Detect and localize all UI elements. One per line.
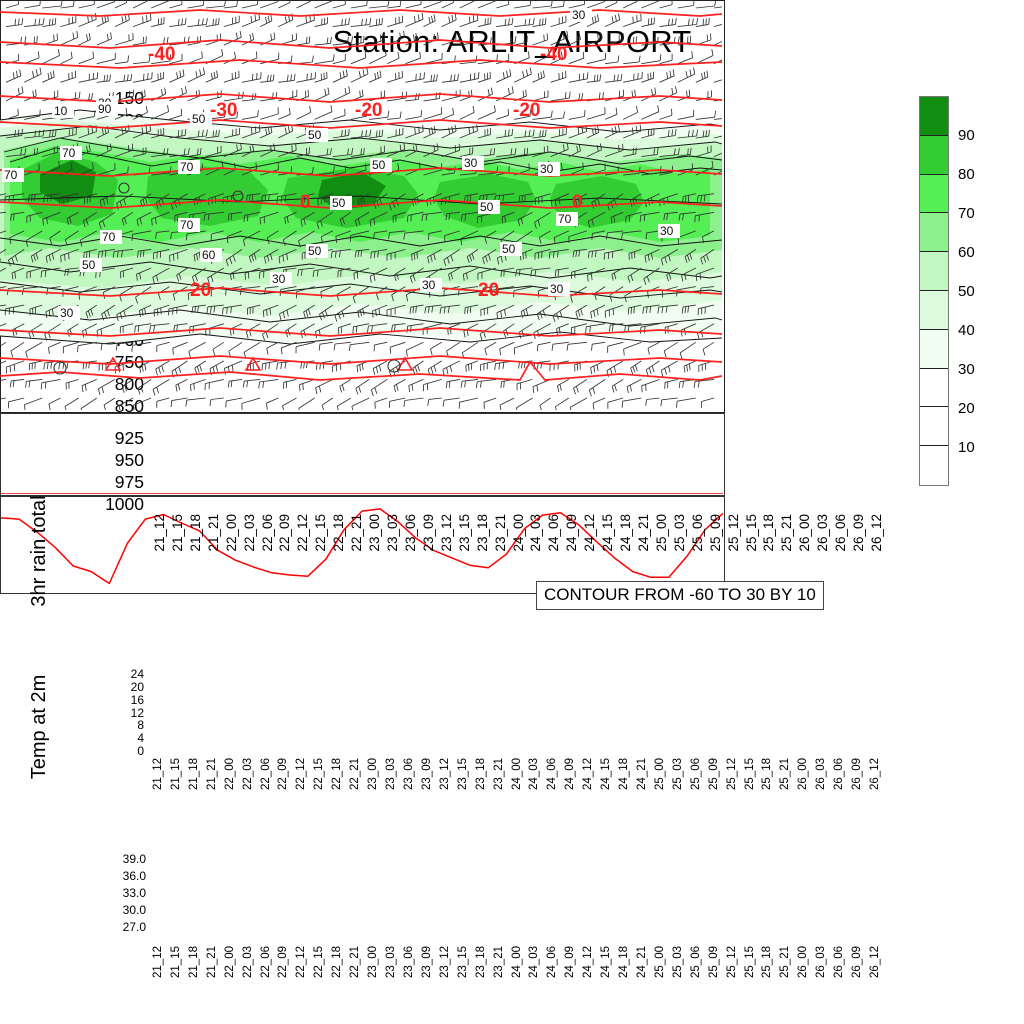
temp-time-tick-22_15: 22_15 xyxy=(314,946,326,978)
pressure-tick-950: 950 xyxy=(88,452,144,470)
temp-y-axis-label: Temp at 2m xyxy=(28,632,56,822)
time-tick-26_03: 26_03 xyxy=(816,514,830,552)
temp-time-tick-21_18: 21_18 xyxy=(189,946,201,978)
colorbar-label-80: 80 xyxy=(958,167,975,182)
temp-x-tick-labels: 21_1221_1521_1821_2122_0022_0322_0622_09… xyxy=(152,946,877,1008)
temp-tick-36.0: 36.0 xyxy=(98,870,146,882)
colorbar-label-10: 10 xyxy=(958,440,975,455)
rain-tick-20: 20 xyxy=(98,681,144,693)
temp-time-tick-26_06: 26_06 xyxy=(834,946,846,978)
temp-time-tick-24_09: 24_09 xyxy=(565,946,577,978)
rain-time-tick-22_15: 22_15 xyxy=(314,758,326,790)
colorbar-band-0 xyxy=(920,97,948,136)
time-tick-23_18: 23_18 xyxy=(476,514,490,552)
time-tick-23_00: 23_00 xyxy=(368,514,382,552)
temp-time-tick-22_18: 22_18 xyxy=(332,946,344,978)
pressure-tick-1000: 1000 xyxy=(88,496,144,514)
time-tick-24_09: 24_09 xyxy=(565,514,579,552)
temp-time-tick-26_12: 26_12 xyxy=(870,946,882,978)
time-tick-26_00: 26_00 xyxy=(798,514,812,552)
svg-text:70: 70 xyxy=(4,168,18,182)
colorbar-band-8 xyxy=(920,407,948,446)
rain-time-tick-24_03: 24_03 xyxy=(529,758,541,790)
rain-time-tick-24_09: 24_09 xyxy=(565,758,577,790)
colorbar-band-4 xyxy=(920,252,948,291)
time-tick-25_03: 25_03 xyxy=(673,514,687,552)
rain-time-tick-25_15: 25_15 xyxy=(745,758,757,790)
svg-text:-20: -20 xyxy=(513,100,540,121)
time-tick-24_03: 24_03 xyxy=(529,514,543,552)
colorbar-band-6 xyxy=(920,330,948,369)
rain-time-tick-23_21: 23_21 xyxy=(494,758,506,790)
svg-text:50: 50 xyxy=(480,200,494,214)
svg-text:10: 10 xyxy=(54,104,68,118)
svg-text:60: 60 xyxy=(202,248,216,262)
time-tick-22_03: 22_03 xyxy=(243,514,257,552)
time-tick-22_18: 22_18 xyxy=(332,514,346,552)
temp-time-tick-23_00: 23_00 xyxy=(368,946,380,978)
colorbar-band-3 xyxy=(920,213,948,252)
time-tick-22_09: 22_09 xyxy=(278,514,292,552)
time-tick-23_03: 23_03 xyxy=(386,514,400,552)
rain-time-tick-24_15: 24_15 xyxy=(601,758,613,790)
time-tick-24_00: 24_00 xyxy=(512,514,526,552)
time-tick-24_06: 24_06 xyxy=(547,514,561,552)
temp-time-tick-24_06: 24_06 xyxy=(547,946,559,978)
time-tick-23_09: 23_09 xyxy=(422,514,436,552)
rain-time-tick-26_06: 26_06 xyxy=(834,758,846,790)
time-tick-24_21: 24_21 xyxy=(637,514,651,552)
svg-text:70: 70 xyxy=(180,160,194,174)
rain-time-tick-26_12: 26_12 xyxy=(870,758,882,790)
temp-time-tick-22_03: 22_03 xyxy=(243,946,255,978)
rain-time-tick-23_12: 23_12 xyxy=(440,758,452,790)
time-tick-25_06: 25_06 xyxy=(691,514,705,552)
temp-time-tick-25_03: 25_03 xyxy=(673,946,685,978)
time-tick-24_15: 24_15 xyxy=(601,514,615,552)
rain-time-tick-23_09: 23_09 xyxy=(422,758,434,790)
temp-time-tick-23_12: 23_12 xyxy=(440,946,452,978)
svg-text:50: 50 xyxy=(372,158,386,172)
rain-time-tick-22_06: 22_06 xyxy=(261,758,273,790)
temp-time-tick-24_21: 24_21 xyxy=(637,946,649,978)
svg-text:-30: -30 xyxy=(210,100,237,121)
temp-time-tick-24_03: 24_03 xyxy=(529,946,541,978)
time-height-cross-section-plot: -40-40 -30 -20-20 00 2020 10 30 30 90 50… xyxy=(0,0,725,413)
rain-time-tick-25_06: 25_06 xyxy=(691,758,703,790)
colorbar-label-20: 20 xyxy=(958,401,975,416)
svg-text:70: 70 xyxy=(102,230,116,244)
temp-time-tick-22_00: 22_00 xyxy=(225,946,237,978)
time-tick-26_09: 26_09 xyxy=(852,514,866,552)
svg-text:30: 30 xyxy=(572,8,586,22)
svg-text:30: 30 xyxy=(272,272,286,286)
svg-text:50: 50 xyxy=(82,258,96,272)
time-tick-24_12: 24_12 xyxy=(583,514,597,552)
svg-text:50: 50 xyxy=(502,242,516,256)
temp-time-tick-24_00: 24_00 xyxy=(512,946,524,978)
time-tick-23_21: 23_21 xyxy=(494,514,508,552)
temp-time-tick-21_15: 21_15 xyxy=(171,946,183,978)
rain-y-tick-labels: 24201612840 xyxy=(96,672,144,755)
svg-text:30: 30 xyxy=(60,306,74,320)
rain-time-tick-22_21: 22_21 xyxy=(350,758,362,790)
temp-time-tick-23_06: 23_06 xyxy=(404,946,416,978)
temp-time-tick-23_15: 23_15 xyxy=(458,946,470,978)
colorbar-label-40: 40 xyxy=(958,323,975,338)
temp-time-tick-23_18: 23_18 xyxy=(476,946,488,978)
temp-time-tick-26_03: 26_03 xyxy=(816,946,828,978)
rain-time-tick-22_18: 22_18 xyxy=(332,758,344,790)
svg-text:70: 70 xyxy=(558,212,572,226)
temp-time-tick-25_06: 25_06 xyxy=(691,946,703,978)
svg-text:0: 0 xyxy=(300,192,311,213)
svg-text:30: 30 xyxy=(550,282,564,296)
rain-time-tick-24_00: 24_00 xyxy=(512,758,524,790)
colorbar-band-5 xyxy=(920,291,948,330)
svg-text:30: 30 xyxy=(464,156,478,170)
colorbar-label-70: 70 xyxy=(958,206,975,221)
temp-time-tick-22_09: 22_09 xyxy=(278,946,290,978)
svg-text:50: 50 xyxy=(192,112,206,126)
time-tick-25_21: 25_21 xyxy=(780,514,794,552)
rain-tick-4: 4 xyxy=(98,732,144,744)
pressure-tick-925: 925 xyxy=(88,430,144,448)
temp-tick-39.0: 39.0 xyxy=(98,853,146,865)
svg-text:30: 30 xyxy=(540,162,554,176)
temp-time-tick-23_21: 23_21 xyxy=(494,946,506,978)
svg-text:30: 30 xyxy=(660,224,674,238)
temp-time-tick-22_06: 22_06 xyxy=(261,946,273,978)
svg-text:-40: -40 xyxy=(540,44,567,65)
time-tick-25_15: 25_15 xyxy=(745,514,759,552)
rain-time-tick-25_18: 25_18 xyxy=(762,758,774,790)
svg-text:0: 0 xyxy=(572,192,583,213)
time-tick-21_12: 21_12 xyxy=(153,514,167,552)
rain-time-tick-23_00: 23_00 xyxy=(368,758,380,790)
svg-text:20: 20 xyxy=(478,280,499,301)
rain-tick-16: 16 xyxy=(98,694,144,706)
humidity-colorbar[interactable] xyxy=(919,96,949,486)
temp-time-tick-25_18: 25_18 xyxy=(762,946,774,978)
rain-tick-24: 24 xyxy=(98,668,144,680)
rain-time-tick-26_03: 26_03 xyxy=(816,758,828,790)
svg-text:70: 70 xyxy=(62,146,76,160)
temp-tick-33.0: 33.0 xyxy=(98,887,146,899)
rain-time-tick-26_09: 26_09 xyxy=(852,758,864,790)
rain-time-tick-21_15: 21_15 xyxy=(171,758,183,790)
svg-text:30: 30 xyxy=(422,278,436,292)
temp-time-tick-21_21: 21_21 xyxy=(207,946,219,978)
temp-time-tick-24_18: 24_18 xyxy=(619,946,631,978)
time-tick-23_12: 23_12 xyxy=(440,514,454,552)
rain-time-tick-21_18: 21_18 xyxy=(189,758,201,790)
rain-time-tick-26_00: 26_00 xyxy=(798,758,810,790)
temp-time-tick-25_00: 25_00 xyxy=(655,946,667,978)
temp-tick-30.0: 30.0 xyxy=(98,904,146,916)
svg-text:-40: -40 xyxy=(148,44,175,65)
contour-range-note: CONTOUR FROM -60 TO 30 BY 10 xyxy=(536,581,824,610)
colorbar-label-30: 30 xyxy=(958,362,975,377)
pressure-tick-975: 975 xyxy=(88,474,144,492)
rain-time-tick-24_12: 24_12 xyxy=(583,758,595,790)
temp-time-tick-22_21: 22_21 xyxy=(350,946,362,978)
time-tick-22_21: 22_21 xyxy=(350,514,364,552)
rain-x-tick-labels: 21_1221_1521_1821_2122_0022_0322_0622_09… xyxy=(152,758,877,820)
rain-time-tick-25_12: 25_12 xyxy=(727,758,739,790)
rain-time-tick-25_09: 25_09 xyxy=(709,758,721,790)
rain-time-tick-23_03: 23_03 xyxy=(386,758,398,790)
svg-text:50: 50 xyxy=(308,128,322,142)
temp-time-tick-23_09: 23_09 xyxy=(422,946,434,978)
rain-time-tick-21_12: 21_12 xyxy=(153,758,165,790)
colorbar-band-1 xyxy=(920,136,948,175)
time-tick-23_06: 23_06 xyxy=(404,514,418,552)
time-tick-26_06: 26_06 xyxy=(834,514,848,552)
rain-time-tick-24_21: 24_21 xyxy=(637,758,649,790)
time-tick-22_15: 22_15 xyxy=(314,514,328,552)
time-tick-26_12: 26_12 xyxy=(870,514,884,552)
svg-text:20: 20 xyxy=(190,280,211,301)
temp-time-tick-26_00: 26_00 xyxy=(798,946,810,978)
time-tick-21_15: 21_15 xyxy=(171,514,185,552)
main-x-tick-labels: 21_1221_1521_1821_2122_0022_0322_0622_09… xyxy=(152,514,877,586)
time-tick-21_21: 21_21 xyxy=(207,514,221,552)
temp-time-tick-25_21: 25_21 xyxy=(780,946,792,978)
surface-weather-symbols xyxy=(106,358,412,370)
temp-time-tick-24_15: 24_15 xyxy=(601,946,613,978)
svg-text:50: 50 xyxy=(332,196,346,210)
temp-time-tick-25_12: 25_12 xyxy=(727,946,739,978)
time-tick-25_12: 25_12 xyxy=(727,514,741,552)
rain-time-tick-21_21: 21_21 xyxy=(207,758,219,790)
rain-y-axis-label: 3hr rain total xyxy=(28,456,56,646)
rain-tick-8: 8 xyxy=(98,719,144,731)
time-tick-23_15: 23_15 xyxy=(458,514,472,552)
time-tick-22_12: 22_12 xyxy=(296,514,310,552)
rain-time-tick-24_18: 24_18 xyxy=(619,758,631,790)
temp-tick-27.0: 27.0 xyxy=(98,921,146,933)
temp-time-tick-26_09: 26_09 xyxy=(852,946,864,978)
rain-time-tick-23_15: 23_15 xyxy=(458,758,470,790)
rain-time-tick-23_18: 23_18 xyxy=(476,758,488,790)
cross-section-canvas: -40-40 -30 -20-20 00 2020 10 30 30 90 50… xyxy=(0,0,722,410)
time-tick-21_18: 21_18 xyxy=(189,514,203,552)
svg-text:-20: -20 xyxy=(355,100,382,121)
colorbar-label-50: 50 xyxy=(958,284,975,299)
rain-time-tick-25_03: 25_03 xyxy=(673,758,685,790)
time-tick-25_09: 25_09 xyxy=(709,514,723,552)
temp-time-tick-25_15: 25_15 xyxy=(745,946,757,978)
colorbar-label-60: 60 xyxy=(958,245,975,260)
temp-time-tick-24_12: 24_12 xyxy=(583,946,595,978)
rain-tick-0: 0 xyxy=(98,745,144,757)
svg-text:90: 90 xyxy=(98,102,112,116)
time-tick-22_00: 22_00 xyxy=(225,514,239,552)
temp-time-tick-23_03: 23_03 xyxy=(386,946,398,978)
time-tick-24_18: 24_18 xyxy=(619,514,633,552)
colorbar-band-2 xyxy=(920,175,948,214)
rain-time-tick-25_00: 25_00 xyxy=(655,758,667,790)
temp-time-tick-25_09: 25_09 xyxy=(709,946,721,978)
colorbar-band-7 xyxy=(920,369,948,408)
time-tick-25_00: 25_00 xyxy=(655,514,669,552)
rain-time-tick-23_06: 23_06 xyxy=(404,758,416,790)
time-tick-22_06: 22_06 xyxy=(261,514,275,552)
rain-time-tick-22_12: 22_12 xyxy=(296,758,308,790)
rain-time-tick-22_09: 22_09 xyxy=(278,758,290,790)
time-tick-25_18: 25_18 xyxy=(762,514,776,552)
svg-text:70: 70 xyxy=(180,218,194,232)
temp-time-tick-21_12: 21_12 xyxy=(153,946,165,978)
rain-time-tick-22_03: 22_03 xyxy=(243,758,255,790)
colorbar-label-90: 90 xyxy=(958,128,975,143)
rain-tick-12: 12 xyxy=(98,707,144,719)
svg-text:50: 50 xyxy=(308,244,322,258)
colorbar-band-9 xyxy=(920,446,948,485)
temp-y-tick-labels: 39.036.033.030.027.0 xyxy=(96,845,146,943)
rain-time-tick-25_21: 25_21 xyxy=(780,758,792,790)
rain-time-tick-24_06: 24_06 xyxy=(547,758,559,790)
rain-time-tick-22_00: 22_00 xyxy=(225,758,237,790)
temp-time-tick-22_12: 22_12 xyxy=(296,946,308,978)
